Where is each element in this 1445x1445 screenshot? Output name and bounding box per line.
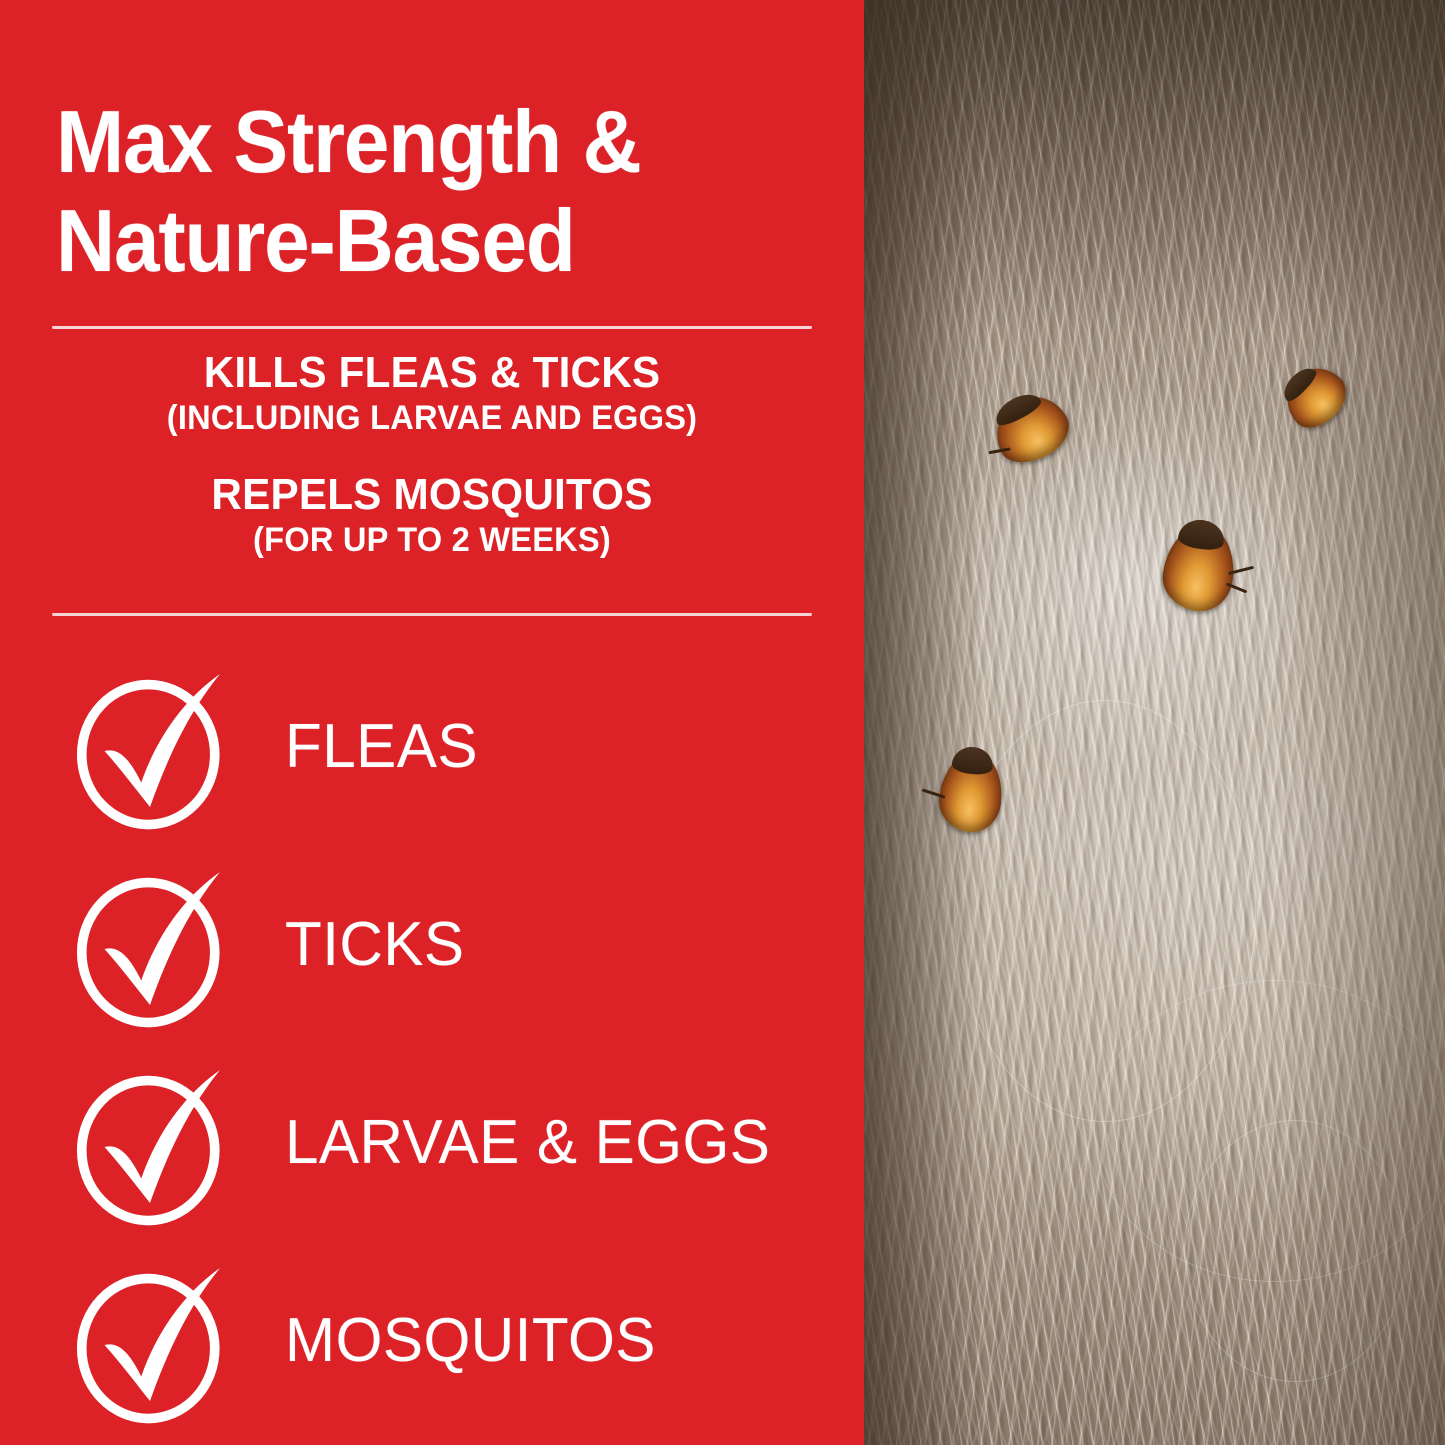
- photo-left-shadow: [864, 0, 984, 1445]
- claim-headline: KILLS FLEAS & TICKS: [17, 350, 846, 396]
- headline-line-1: Max Strength &: [56, 92, 641, 191]
- claim-detail: (FOR UP TO 2 WEEKS): [17, 520, 846, 560]
- claim-detail: (INCLUDING LARVAE AND EGGS): [17, 398, 846, 438]
- list-item-label: FLEAS: [285, 716, 478, 778]
- check-circle-icon: [66, 1254, 241, 1429]
- list-item-label: LARVAE & EGGS: [285, 1112, 770, 1174]
- claim-item: REPELS MOSQUITOS (FOR UP TO 2 WEEKS): [0, 472, 864, 560]
- red-info-panel: Max Strength & Nature-Based KILLS FLEAS …: [0, 0, 864, 1445]
- claims-block: KILLS FLEAS & TICKS (INCLUDING LARVAE AN…: [0, 350, 864, 560]
- flea-insect: [936, 749, 1006, 835]
- list-item: FLEAS: [0, 648, 864, 846]
- list-item-label: TICKS: [285, 914, 465, 976]
- headline-line-2: Nature-Based: [56, 192, 791, 291]
- fur-closeup-photo: [864, 0, 1445, 1445]
- benefits-checklist: FLEAS TICKS LARVAE & E: [0, 648, 864, 1440]
- check-circle-icon: [66, 1056, 241, 1231]
- photo-right-shadow: [1275, 0, 1445, 1445]
- divider-top: [52, 326, 812, 329]
- check-circle-icon: [66, 858, 241, 1033]
- flea-insect: [1158, 521, 1239, 616]
- list-item: LARVAE & EGGS: [0, 1044, 864, 1242]
- list-item: TICKS: [0, 846, 864, 1044]
- divider-bottom: [52, 613, 812, 616]
- list-item: MOSQUITOS: [0, 1242, 864, 1440]
- page-title: Max Strength & Nature-Based: [56, 93, 791, 290]
- claim-headline: REPELS MOSQUITOS: [17, 472, 846, 518]
- list-item-label: MOSQUITOS: [285, 1310, 656, 1372]
- claim-item: KILLS FLEAS & TICKS (INCLUDING LARVAE AN…: [0, 350, 864, 438]
- product-feature-banner: Max Strength & Nature-Based KILLS FLEAS …: [0, 0, 1445, 1445]
- check-circle-icon: [66, 660, 241, 835]
